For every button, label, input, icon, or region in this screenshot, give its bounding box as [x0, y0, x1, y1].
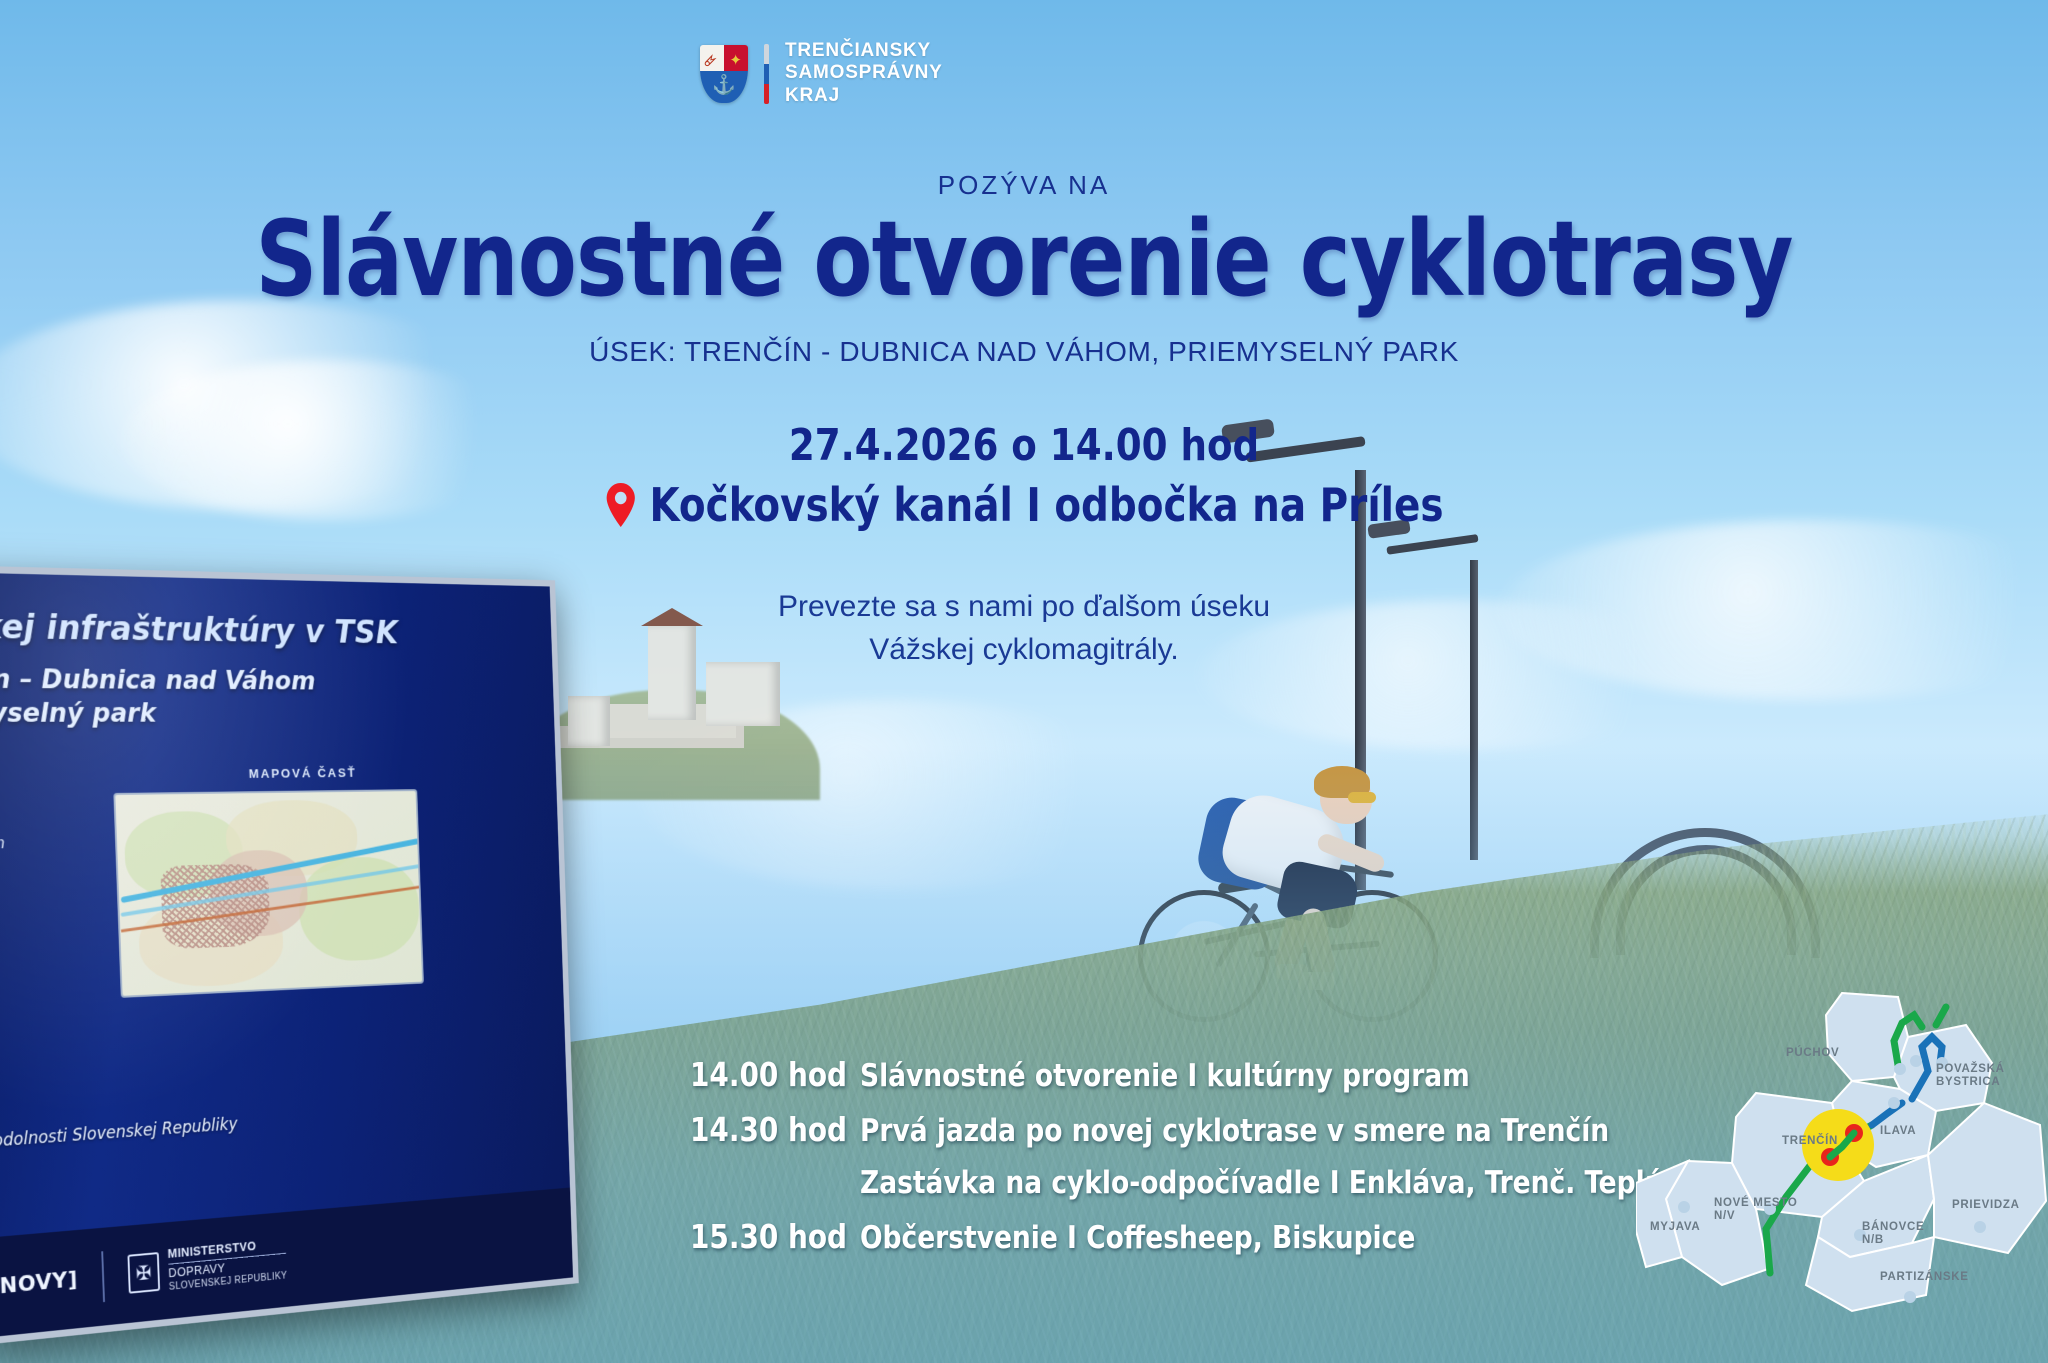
- tsk-flag-bars: [764, 44, 769, 104]
- lead-paragraph: Prevezte sa s nami po ďalšom úseku Vážsk…: [0, 586, 2048, 671]
- schedule-time: 14.30 hod: [690, 1110, 850, 1149]
- billboard-meta-line: ...020 MG: [0, 1032, 152, 1067]
- region-label-trencin: TRENČÍN: [1782, 1135, 1838, 1148]
- schedule-row: 14.30 hod Prvá jazda po novej cyklotrase…: [690, 1110, 1710, 1149]
- page-title: Slávnostné otvorenie cyklotrasy: [82, 198, 1966, 320]
- region-label-partizanske: PARTIZÁNSKE: [1880, 1271, 1969, 1284]
- tsk-logo-text: TRENČIANSKY SAMOSPRÁVNY KRAJ: [785, 40, 943, 107]
- region-label-myjava: MYJAVA: [1650, 1221, 1700, 1234]
- route-subtitle: ÚSEK: TRENČÍN - DUBNICA NAD VÁHOM, PRIEM…: [0, 336, 2048, 368]
- ministry-line-1: MINISTERSTVO: [167, 1236, 286, 1265]
- schedule-description: Slávnostné otvorenie I kultúrny program: [860, 1058, 1470, 1094]
- schedule-row: 14.00 hod Slávnostné otvorenie I kultúrn…: [690, 1055, 1710, 1094]
- lead-line-1: Prevezte sa s nami po ďalšom úseku: [0, 586, 2048, 629]
- tsk-logo-line-1: TRENČIANSKY: [785, 40, 943, 62]
- event-place: Kočkovský kanál I odbočka na Príles: [61, 478, 1986, 532]
- region-label-povazska-bystrica: POVAŽSKÁBYSTRICA: [1936, 1063, 2046, 1089]
- tsk-logo: 🜸✦⚓ TRENČIANSKY SAMOSPRÁVNY KRAJ: [700, 40, 943, 107]
- region-label-banovce: BÁNOVCEN/B: [1862, 1221, 1962, 1247]
- schedule-description: Prvá jazda po novej cyklotrase v smere n…: [860, 1113, 1609, 1149]
- schedule-description: Zastávka na cyklo-odpočívadle I Enkláva,…: [860, 1165, 1663, 1201]
- region-map-svg: [1636, 985, 2048, 1315]
- ministry-logo: ✠ MINISTERSTVO DOPRAVY SLOVENSKEJ REPUBL…: [127, 1236, 287, 1298]
- billboard-subtitle-line2: ...priemyselný park: [0, 697, 532, 732]
- roadside-billboard: ...istickej infraštruktúry v TSK ...Tren…: [0, 565, 579, 1344]
- event-date: 27.4.2026 o 14.00 hod: [61, 420, 1986, 471]
- tsk-logo-line-3: KRAJ: [785, 85, 943, 107]
- slovak-crest-icon: ✠: [127, 1252, 160, 1294]
- billboard-subtitle: ...Trenčín – Dubnica nad Váhom ...priemy…: [0, 662, 532, 731]
- lead-line-2: Vážskej cyklomagitrály.: [0, 629, 2048, 672]
- map-pin-icon: [604, 482, 636, 528]
- tsk-logo-line-2: SAMOSPRÁVNY: [785, 62, 943, 84]
- region-label-prievidza: PRIEVIDZA: [1952, 1199, 2020, 1212]
- billboard-meta-line: ...986 632: [0, 999, 151, 1033]
- schedule-time: 14.00 hod: [690, 1055, 850, 1094]
- event-schedule: 14.00 hod Slávnostné otvorenie I kultúrn…: [690, 1055, 1710, 1272]
- schedule-time: 15.30 hod: [690, 1217, 850, 1256]
- billboard-map-image: [113, 789, 424, 998]
- plan-obnovy-logo: PLÁN [OBNOVY]: [0, 1267, 78, 1311]
- region-label-ilava: ILAVA: [1880, 1125, 1916, 1138]
- schedule-description: Občerstvenie I Coffesheep, Biskupice: [860, 1220, 1415, 1256]
- billboard-funding-text: ...inu obnovy a odolnosti Slovenskej Rep…: [0, 1105, 381, 1161]
- event-place-text: Kočkovský kanál I odbočka na Príles: [650, 478, 1444, 532]
- billboard-map-label: MAPOVÁ ČASŤ: [249, 766, 357, 781]
- eyebrow-text: POZÝVA NA: [0, 170, 2048, 201]
- schedule-row: 15.30 hod Občerstvenie I Coffesheep, Bis…: [690, 1217, 1710, 1256]
- trencin-region-map: PÚCHOV POVAŽSKÁBYSTRICA ILAVA TRENČÍN NO…: [1636, 985, 2048, 1315]
- schedule-row: Zastávka na cyklo-odpočívadle I Enkláva,…: [690, 1165, 1710, 1201]
- poster-canvas: ...istickej infraštruktúry v TSK ...Tren…: [0, 0, 2048, 1363]
- region-label-nove-mesto: NOVÉ MESTON/V: [1714, 1197, 1834, 1223]
- trencin-coat-of-arms-icon: 🜸✦⚓: [700, 45, 748, 103]
- region-label-puchov: PÚCHOV: [1786, 1047, 1839, 1060]
